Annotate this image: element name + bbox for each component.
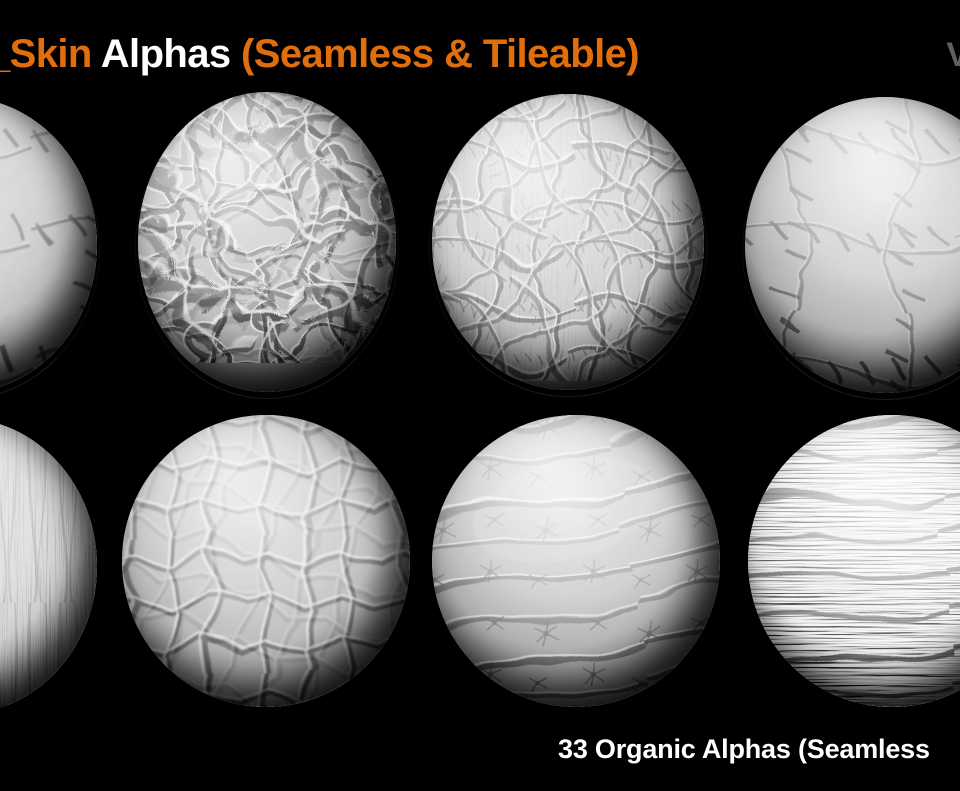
sphere-1[interactable] [0,97,97,393]
sphere-4-texture-thread-highlight [745,97,960,393]
footer-caption-text: 33 Organic Alphas (Seamless [558,734,930,764]
footer-caption: 33 Organic Alphas (Seamless [558,731,960,767]
sphere-7[interactable] [432,415,720,707]
sphere-5-texture-grain [0,418,97,705]
sphere-5[interactable] [0,418,97,714]
sphere-1-texture-highlight [0,97,97,384]
preview-canvas: _Skin Alphas (Seamless & Tileable) V 33 … [0,0,960,791]
sphere-7-texture-sheen [432,415,720,707]
sphere-4[interactable] [745,97,960,393]
sphere-6-texture-cell-specular [122,415,410,707]
sphere-3[interactable] [432,94,704,390]
sphere-8[interactable] [748,415,960,707]
title-segment-skin: _Skin [0,32,92,76]
title-segment-alphas: Alphas [92,32,241,76]
title-segment-seamless-tileable: (Seamless & Tileable) [241,32,639,76]
watermark-logo: V [946,36,960,75]
sphere-2[interactable] [138,92,396,392]
sphere-3-texture-fibre [432,94,704,381]
sphere-6[interactable] [122,415,410,707]
sphere-8-texture-fold-sheen [748,415,960,707]
page-title: _Skin Alphas (Seamless & Tileable) [0,28,808,80]
sphere-2-texture-specular [138,92,396,363]
